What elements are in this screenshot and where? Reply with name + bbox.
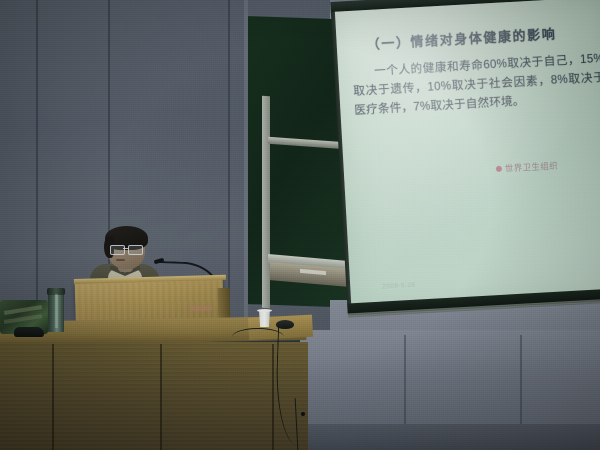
glasses-left-lens [110, 245, 125, 255]
podium-label-sticker [190, 306, 212, 312]
desk-front-panel [0, 342, 308, 450]
glasses-right-lens [128, 245, 143, 255]
desk-panel-seam [160, 344, 162, 450]
desk-panel-seam [272, 344, 274, 450]
lecture-hall-scene: （一）情绪对身体健康的影响 一个人的健康和寿命60%取决于自己，15%取决于遗传… [0, 0, 600, 450]
speaker-mouth [116, 259, 125, 261]
bullet-dot-icon [496, 166, 502, 172]
projection-screen[interactable]: （一）情绪对身体健康的影响 一个人的健康和寿命60%取决于自己，15%取决于遗传… [330, 0, 600, 316]
dark-object-on-desk [14, 327, 44, 337]
desk-panel-seam [52, 344, 54, 450]
slide-datestamp: 2009-5-26 [382, 282, 416, 291]
slide-content: （一）情绪对身体健康的影响 一个人的健康和寿命60%取决于自己，15%取决于遗传… [335, 0, 600, 307]
wall-baseboard [300, 424, 600, 450]
wall-seam [36, 0, 38, 340]
slide-source-label: 世界卫生组织 [505, 160, 559, 175]
thermos-highlight [55, 294, 58, 328]
chalkboard-frame [262, 96, 270, 308]
slide-title: （一）情绪对身体健康的影响 [366, 21, 597, 53]
cable-clip [301, 412, 305, 416]
glasses-icon [109, 245, 144, 254]
paper-cup-rim [257, 309, 272, 312]
screen-surface: （一）情绪对身体健康的影响 一个人的健康和寿命60%取决于自己，15%取决于遗传… [335, 0, 600, 307]
paper-cup [258, 310, 271, 327]
slide-body-text: 一个人的健康和寿命60%取决于自己，15%取决于遗传，10%取决于社会因素，8%… [352, 49, 600, 120]
slide-source-attribution: 世界卫生组织 [496, 160, 559, 175]
